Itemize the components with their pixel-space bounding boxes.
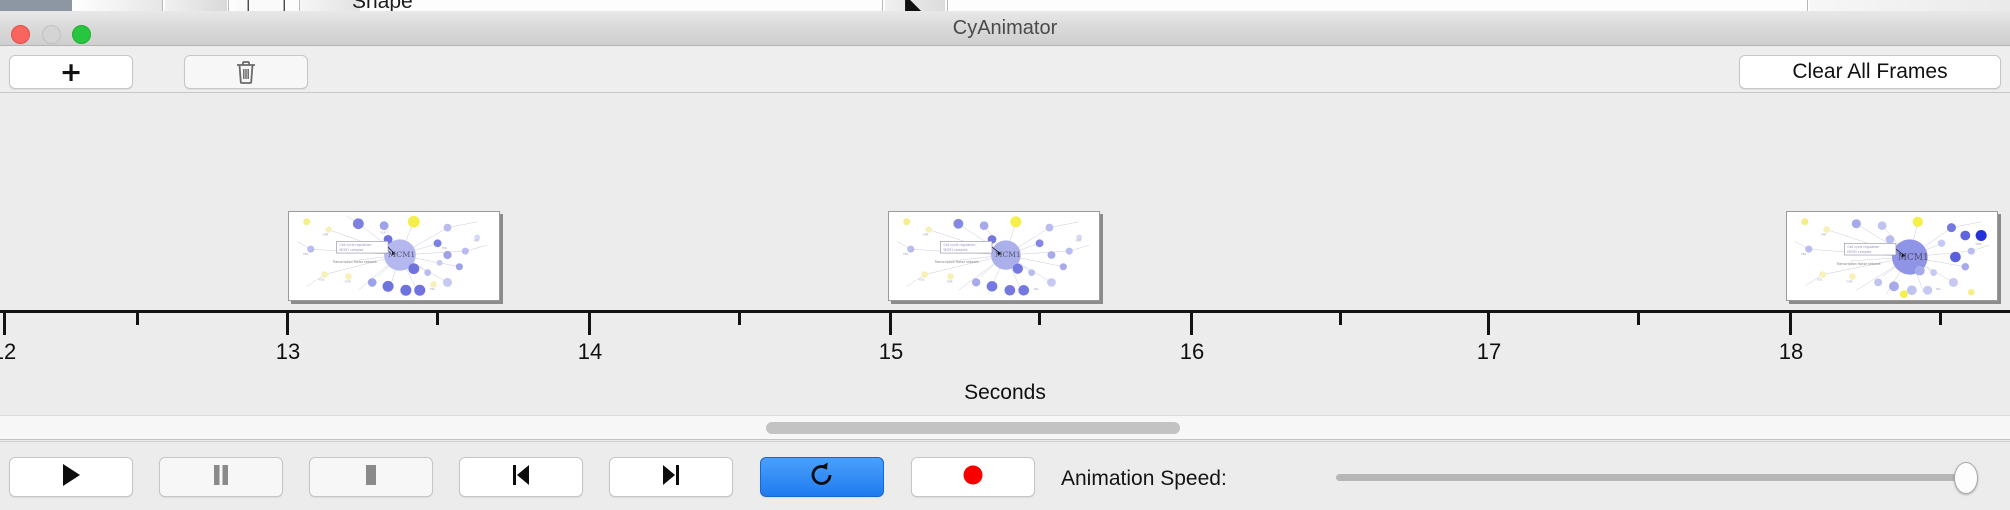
svg-text:YBL: YBL bbox=[1801, 252, 1807, 256]
animation-speed-slider-thumb[interactable] bbox=[1954, 462, 1978, 494]
timeline-frame[interactable]: YPRYBL YDLYGR YKLYHR Cell cycle regulati… bbox=[1786, 211, 1998, 301]
svg-text:MCM1 complex: MCM1 complex bbox=[943, 248, 967, 252]
timeline-frame[interactable]: YPRYBL YDLYGR YKLYHR Cell cycle regulati… bbox=[888, 211, 1100, 301]
network-thumbnail: YPRYBL YDLYGR YKLYHR Cell cycle regulati… bbox=[1787, 212, 1997, 300]
pause-icon bbox=[209, 462, 233, 493]
svg-text:YDL: YDL bbox=[1817, 277, 1823, 281]
pause-button[interactable] bbox=[159, 457, 283, 497]
toolbar: + Clear All Frames bbox=[0, 46, 2010, 93]
hub-node-label: MCM1 bbox=[995, 250, 1021, 259]
frames-strip: YPRYBL YDLYGR YKLYHR YLRYNL Cell cycle r… bbox=[0, 93, 2010, 310]
animation-speed-label: Animation Speed: bbox=[1061, 467, 1227, 491]
svg-text:Cell cycle regulation: Cell cycle regulation bbox=[943, 243, 975, 247]
svg-text:Cell cycle regulation: Cell cycle regulation bbox=[340, 243, 372, 247]
ruler-tick-label: 15 bbox=[879, 339, 903, 365]
svg-text:YLR: YLR bbox=[380, 231, 386, 235]
svg-text:YGR: YGR bbox=[1846, 279, 1852, 283]
network-thumbnail: YPRYBL YDLYGR YKLYHR Cell cycle regulati… bbox=[889, 212, 1099, 300]
svg-text:Transcription factor network: Transcription factor network bbox=[332, 260, 377, 264]
ruler-axis-title: Seconds bbox=[0, 381, 2010, 405]
clear-all-frames-label: Clear All Frames bbox=[1792, 60, 1947, 84]
svg-text:MCM1 complex: MCM1 complex bbox=[1847, 250, 1871, 254]
bg-tab-b bbox=[165, 0, 227, 11]
bg-tab-d bbox=[300, 0, 360, 11]
svg-text:YDL: YDL bbox=[319, 277, 325, 281]
hub-node-label: MCM1 bbox=[388, 250, 415, 259]
timeline-ruler[interactable]: 12 13 14 15 16 17 18 Seconds bbox=[0, 310, 2010, 415]
ruler-tick-label: 13 bbox=[276, 339, 300, 365]
bg-tab-f bbox=[1810, 0, 2010, 11]
ruler-tick-label: 18 bbox=[1779, 339, 1803, 365]
svg-text:YDL: YDL bbox=[919, 277, 925, 281]
svg-text:YBL: YBL bbox=[303, 252, 309, 256]
play-icon bbox=[59, 462, 83, 493]
stop-button[interactable] bbox=[309, 457, 433, 497]
bg-partial-label: Shape bbox=[352, 0, 413, 11]
svg-text:YHR: YHR bbox=[473, 238, 479, 242]
svg-text:YGR: YGR bbox=[946, 279, 952, 283]
hub-node-label: MCM1 bbox=[1898, 253, 1929, 263]
bg-tab-a bbox=[72, 0, 162, 11]
title-bar: CyAnimator bbox=[0, 11, 2010, 46]
svg-text:YPR: YPR bbox=[1821, 232, 1827, 236]
skip-backward-icon bbox=[509, 462, 533, 493]
svg-text:YKL: YKL bbox=[1936, 287, 1942, 291]
record-button[interactable] bbox=[911, 457, 1035, 497]
network-thumbnail: YPRYBL YDLYGR YKLYHR YLRYNL Cell cycle r… bbox=[289, 212, 499, 300]
svg-text:YHR: YHR bbox=[1075, 238, 1081, 242]
timeline-horizontal-scrollbar[interactable] bbox=[0, 415, 2010, 440]
ruler-tick-label: 14 bbox=[578, 339, 602, 365]
svg-text:YKL: YKL bbox=[430, 287, 436, 291]
svg-text:Transcription factor network: Transcription factor network bbox=[1836, 262, 1881, 266]
loop-button[interactable] bbox=[760, 457, 884, 497]
svg-text:YNL: YNL bbox=[442, 246, 448, 250]
cyanimator-window: | | ◣ Shape CyAnimator + Clear All F bbox=[0, 0, 2010, 510]
skip-to-end-button[interactable] bbox=[609, 457, 733, 497]
skip-to-start-button[interactable] bbox=[459, 457, 583, 497]
svg-text:YHR: YHR bbox=[1975, 242, 1981, 246]
playback-controls: Animation Speed: bbox=[0, 441, 2010, 510]
skip-forward-icon bbox=[659, 462, 683, 493]
ruler-tick-label: 17 bbox=[1477, 339, 1501, 365]
bg-tab-active bbox=[0, 0, 72, 11]
svg-text:YKL: YKL bbox=[1034, 287, 1040, 291]
timeline-panel[interactable]: YPRYBL YDLYGR YKLYHR YLRYNL Cell cycle r… bbox=[0, 93, 2010, 415]
svg-text:YBL: YBL bbox=[903, 252, 909, 256]
add-frame-button[interactable]: + bbox=[9, 55, 133, 89]
timeline-frame[interactable]: YPRYBL YDLYGR YKLYHR YLRYNL Cell cycle r… bbox=[288, 211, 500, 301]
ruler-baseline bbox=[0, 310, 2010, 313]
svg-text:YPR: YPR bbox=[323, 232, 329, 236]
plus-icon: + bbox=[60, 59, 83, 86]
trash-icon bbox=[234, 59, 258, 85]
svg-text:YPR: YPR bbox=[923, 232, 929, 236]
ruler-tick-label: 16 bbox=[1180, 339, 1204, 365]
bg-tab-c bbox=[236, 0, 280, 11]
animation-speed-slider[interactable] bbox=[1336, 474, 1976, 481]
play-button[interactable] bbox=[9, 457, 133, 497]
svg-text:YGR: YGR bbox=[344, 279, 350, 283]
background-window-sliver: | | ◣ Shape bbox=[0, 0, 2010, 11]
svg-text:Cell cycle regulation: Cell cycle regulation bbox=[1847, 245, 1879, 249]
stop-icon bbox=[359, 462, 383, 493]
clear-all-frames-button[interactable]: Clear All Frames bbox=[1739, 55, 2001, 89]
delete-frame-button[interactable] bbox=[184, 55, 308, 89]
window-title: CyAnimator bbox=[0, 17, 2010, 40]
svg-text:Transcription factor network: Transcription factor network bbox=[934, 260, 979, 264]
svg-text:MCM1 complex: MCM1 complex bbox=[340, 248, 364, 252]
scrollbar-thumb[interactable] bbox=[766, 422, 1180, 434]
record-icon bbox=[961, 462, 985, 493]
loop-icon bbox=[809, 461, 835, 494]
ruler-tick-label: 12 bbox=[0, 339, 16, 365]
